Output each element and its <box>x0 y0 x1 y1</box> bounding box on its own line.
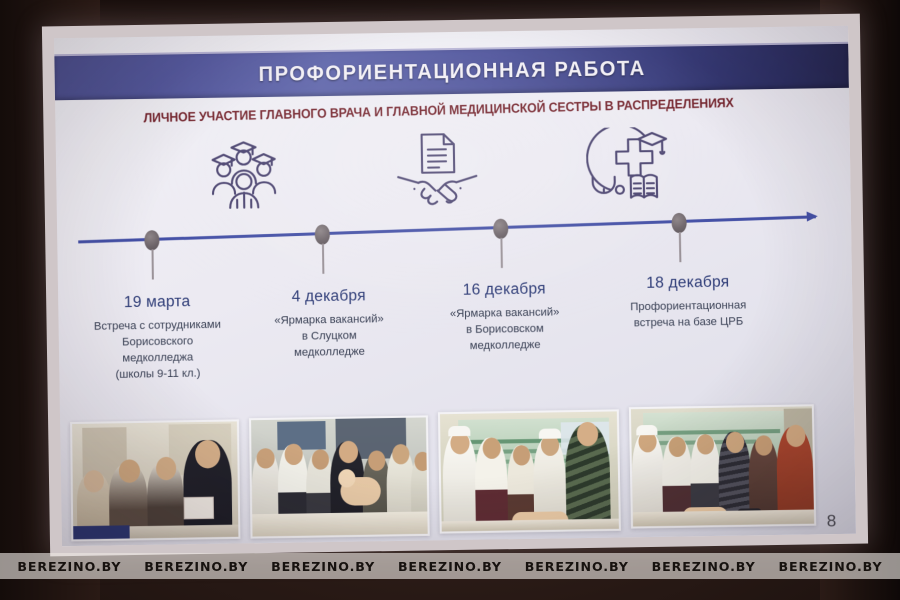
milestone-date: 19 марта <box>69 292 246 313</box>
milestone-3: 16 декабря «Ярмарка вакансий» в Борисовс… <box>416 280 594 356</box>
timeline-labels: 19 марта Встреча с сотрудниками Борисовс… <box>57 271 856 404</box>
milestone-date: 4 декабря <box>241 286 416 307</box>
photo-job-fair-borisov <box>438 409 621 533</box>
milestone-line: встреча на базе ЦРБ <box>595 314 782 333</box>
timeline-node-4 <box>671 213 686 233</box>
slide-subtitle: ЛИЧНОЕ УЧАСТИЕ ГЛАВНОГО ВРАЧА И ГЛАВНОЙ … <box>85 93 793 126</box>
watermark-text: BEREZINO.BY <box>144 559 248 574</box>
projection-screen: ПРОФОРИЕНТАЦИОННАЯ РАБОТА ЛИЧНОЕ УЧАСТИЕ… <box>42 14 868 557</box>
slide-canvas: ПРОФОРИЕНТАЦИОННАЯ РАБОТА ЛИЧНОЕ УЧАСТИЕ… <box>54 26 856 546</box>
photo-strip <box>58 396 856 542</box>
page-title: ПРОФОРИЕНТАЦИОННАЯ РАБОТА <box>258 57 645 87</box>
milestone-date: 16 декабря <box>416 280 593 301</box>
watermark-text: BEREZINO.BY <box>778 559 882 574</box>
screenshot-root: ПРОФОРИЕНТАЦИОННАЯ РАБОТА ЛИЧНОЕ УЧАСТИЕ… <box>0 0 900 600</box>
watermark-text: BEREZINO.BY <box>398 559 502 574</box>
milestone-1: 19 марта Встреча с сотрудниками Борисовс… <box>69 292 247 384</box>
milestone-line: медколледже <box>417 337 594 356</box>
slide-page-number: 8 <box>827 511 837 531</box>
watermark-text: BEREZINO.BY <box>271 559 375 574</box>
milestone-line: медколледже <box>242 344 417 363</box>
timeline-stem-4 <box>679 232 681 262</box>
handshake-document-icon <box>393 130 480 210</box>
slide-title-bar: ПРОФОРИЕНТАЦИОННАЯ РАБОТА <box>54 42 849 101</box>
timeline-node-2 <box>315 224 330 244</box>
milestone-line: (школы 9-11 кл.) <box>70 365 247 384</box>
milestone-description: Профориентационная встреча на базе ЦРБ <box>595 298 782 333</box>
graduates-group-icon <box>205 137 282 210</box>
timeline-axis <box>78 215 816 243</box>
photo-job-fair-slutsk <box>249 415 430 538</box>
timeline-node-1 <box>144 230 159 250</box>
milestone-2: 4 декабря «Ярмарка вакансий» в Слуцком м… <box>241 286 417 362</box>
watermark-bar: BEREZINO.BY BEREZINO.BY BEREZINO.BY BERE… <box>0 553 900 579</box>
milestone-line: Встреча с сотрудниками <box>69 317 246 336</box>
milestone-description: «Ярмарка вакансий» в Борисовском медколл… <box>416 305 593 356</box>
timeline-stem-2 <box>322 244 324 274</box>
milestone-description: «Ярмарка вакансий» в Слуцком медколледже <box>242 312 417 363</box>
timeline-node-3 <box>493 219 508 239</box>
milestone-4: 18 декабря Профориентационная встреча на… <box>594 273 782 333</box>
photo-career-meeting-crb <box>629 404 816 528</box>
medical-education-icon <box>586 127 672 207</box>
milestone-date: 18 декабря <box>594 273 781 294</box>
watermark-text: BEREZINO.BY <box>17 559 121 574</box>
timeline-stem-1 <box>152 249 154 279</box>
watermark-text: BEREZINO.BY <box>525 559 629 574</box>
timeline-stem-3 <box>500 238 502 268</box>
watermark-text: BEREZINO.BY <box>652 559 756 574</box>
milestone-description: Встреча с сотрудниками Борисовского медк… <box>69 317 246 384</box>
photo-meeting-borisov-college <box>70 419 240 541</box>
